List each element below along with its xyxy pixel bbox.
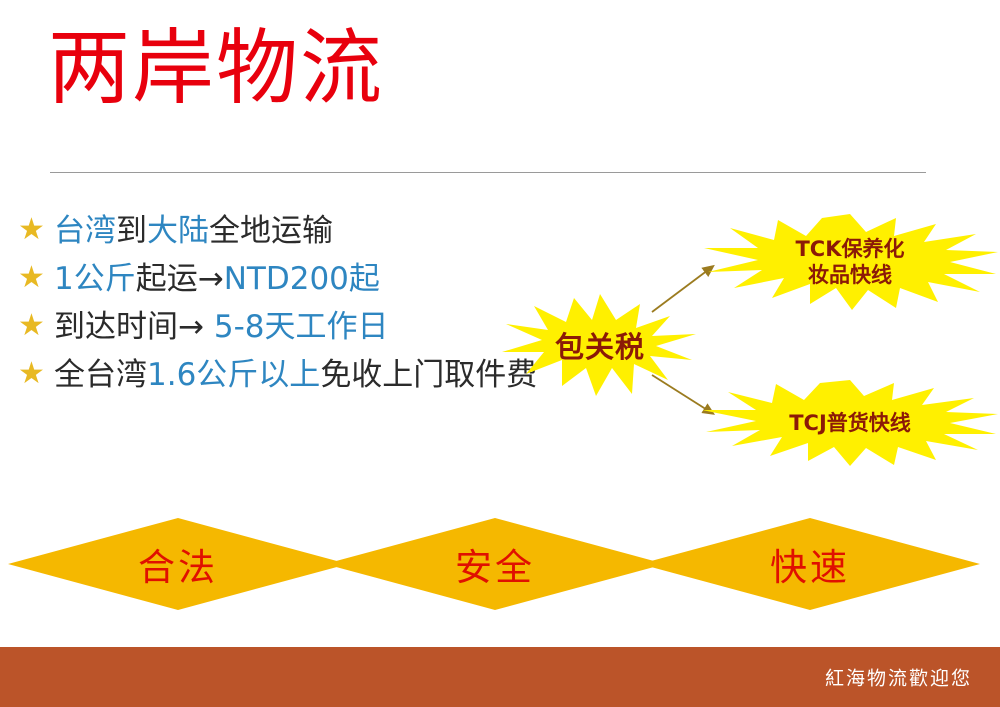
slide-canvas: 两岸物流 ★ 台湾到大陆全地运输 ★ 1公斤起运→NTD200起 ★ 到达时间→… (0, 0, 1000, 707)
burst-tcj-general-cargo-line: TCJ普货快线 (700, 378, 1000, 468)
diamond-legal: 合法 (8, 518, 348, 610)
bullet-2-seg-1: 1公斤 (54, 261, 136, 297)
diamond-label: 合法 (8, 518, 348, 610)
bullet-1-seg-1: 台湾 (54, 213, 116, 249)
page-title: 两岸物流 (48, 28, 384, 110)
bullet-2-seg-3: NTD200起 (224, 261, 380, 297)
bullet-2-seg-2: 起运→ (136, 261, 224, 297)
list-item-label: 台湾到大陆全地运输 (54, 210, 578, 252)
diamond-label: 快速 (640, 518, 980, 610)
starburst-shape (700, 378, 1000, 468)
star-icon: ★ (18, 354, 54, 394)
value-diamond-row: 合法 安全 快速 (0, 518, 1000, 610)
bullet-1-seg-2: 到 (116, 213, 147, 249)
bullet-1-seg-3: 大陆 (147, 213, 209, 249)
starburst-shape (700, 212, 1000, 312)
bullet-3-seg-1: 到达时间→ (54, 309, 214, 345)
burst-customs-tax: 包关税 (500, 290, 700, 400)
diamond-safe: 安全 (325, 518, 665, 610)
header-divider (50, 172, 926, 173)
burst-tck-cosmetics-line: TCK保养化 妆品快线 (700, 212, 1000, 312)
bullet-3-seg-2: 5-8天工作日 (214, 309, 389, 345)
star-icon: ★ (18, 210, 54, 250)
star-icon: ★ (18, 306, 54, 346)
star-icon: ★ (18, 258, 54, 298)
diamond-fast: 快速 (640, 518, 980, 610)
bullet-4-seg-2: 1.6公斤以上 (147, 357, 320, 393)
starburst-shape (500, 290, 700, 400)
list-item: ★ 全台湾1.6公斤以上免收上门取件费 (18, 354, 578, 396)
footer-welcome-text: 紅海物流歡迎您 (825, 664, 972, 691)
footer-bar: 紅海物流歡迎您 (0, 647, 1000, 707)
list-item: ★ 1公斤起运→NTD200起 (18, 258, 578, 300)
list-item: ★ 台湾到大陆全地运输 (18, 210, 578, 252)
bullet-1-seg-4: 全地运输 (209, 213, 333, 249)
diamond-label: 安全 (325, 518, 665, 610)
list-item: ★ 到达时间→ 5-8天工作日 (18, 306, 578, 348)
bullet-4-seg-1: 全台湾 (54, 357, 147, 393)
feature-bullet-list: ★ 台湾到大陆全地运输 ★ 1公斤起运→NTD200起 ★ 到达时间→ 5-8天… (18, 210, 578, 402)
